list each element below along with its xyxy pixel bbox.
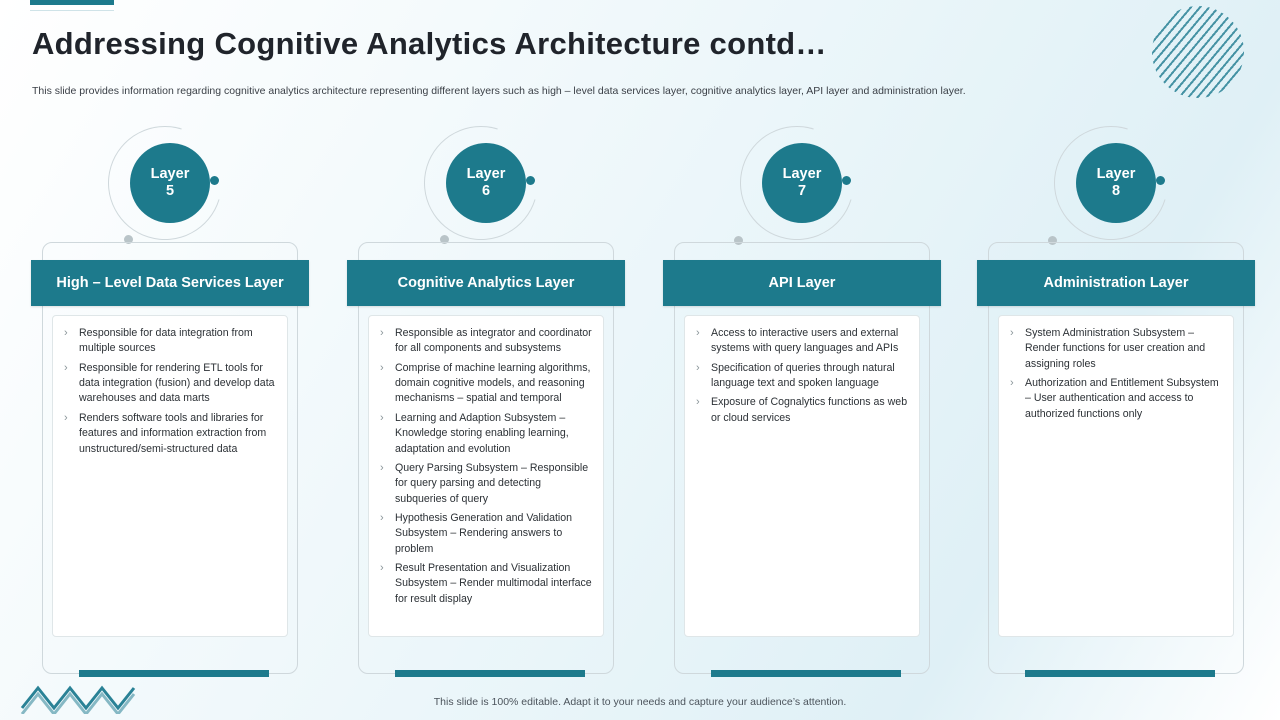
list-item-text: Responsible for data integration from mu… (79, 327, 253, 354)
list-item: ›Specification of queries through natura… (693, 361, 911, 392)
chevron-right-icon: › (64, 411, 68, 427)
list-item-text: Authorization and Entitlement Subsystem … (1025, 377, 1219, 420)
layers-container: Layer 5 High – Level Data Services Layer… (0, 120, 1280, 680)
list-item: ›Exposure of Cognalytics functions as we… (693, 395, 911, 426)
list-item: ›Learning and Adaption Subsystem – Knowl… (377, 411, 595, 457)
layer-badge-wrap-7: Layer 7 (740, 120, 870, 242)
layer-badge-7: Layer 7 (762, 143, 842, 223)
layer-card-7[interactable]: API Layer ›Access to interactive users a… (674, 242, 930, 674)
list-item-text: System Administration Subsystem – Render… (1025, 327, 1205, 370)
layer-badge-5: Layer 5 (130, 143, 210, 223)
layer-card-body-7: ›Access to interactive users and externa… (684, 315, 920, 637)
layer-badge-label: Layer (1097, 166, 1136, 183)
list-item-text: Result Presentation and Visualization Su… (395, 562, 592, 605)
layer-card-header-6: Cognitive Analytics Layer (347, 260, 625, 306)
badge-arc-dot-icon (526, 176, 535, 185)
footer-note: This slide is 100% editable. Adapt it to… (0, 696, 1280, 708)
list-item: ›Renders software tools and libraries fo… (61, 411, 279, 457)
list-item-text: Comprise of machine learning algorithms,… (395, 362, 590, 405)
list-item-text: Responsible as integrator and coordinato… (395, 327, 592, 354)
layer-column-8: Layer 8 Administration Layer ›System Adm… (970, 120, 1258, 680)
chevron-right-icon: › (380, 461, 384, 477)
layer-badge-number: 6 (482, 183, 490, 200)
list-item: ›System Administration Subsystem – Rende… (1007, 326, 1225, 372)
layer-badge-label: Layer (151, 166, 190, 183)
list-item-text: Renders software tools and libraries for… (79, 412, 266, 455)
layer-badge-label: Layer (783, 166, 822, 183)
slide-canvas: Addressing Cognitive Analytics Architect… (0, 0, 1280, 720)
list-item-text: Responsible for rendering ETL tools for … (79, 362, 275, 405)
layer-card-5[interactable]: High – Level Data Services Layer ›Respon… (42, 242, 298, 674)
list-item-text: Hypothesis Generation and Validation Sub… (395, 512, 572, 555)
chevron-right-icon: › (1010, 376, 1014, 392)
layer-badge-number: 5 (166, 183, 174, 200)
layer-card-6[interactable]: Cognitive Analytics Layer ›Responsible a… (358, 242, 614, 674)
list-item: ›Access to interactive users and externa… (693, 326, 911, 357)
page-subtitle: This slide provides information regardin… (32, 84, 1032, 99)
list-item-text: Query Parsing Subsystem – Responsible fo… (395, 462, 588, 505)
list-item-text: Exposure of Cognalytics functions as web… (711, 396, 907, 423)
bullet-list-6: ›Responsible as integrator and coordinat… (377, 326, 595, 607)
layer-card-footer-bar (711, 670, 901, 677)
layer-card-header-7: API Layer (663, 260, 941, 306)
list-item: ›Responsible for rendering ETL tools for… (61, 361, 279, 407)
layer-card-footer-bar (79, 670, 269, 677)
list-item: ›Hypothesis Generation and Validation Su… (377, 511, 595, 557)
list-item-text: Learning and Adaption Subsystem – Knowle… (395, 412, 569, 455)
chevron-right-icon: › (1010, 326, 1014, 342)
layer-badge-8: Layer 8 (1076, 143, 1156, 223)
layer-badge-6: Layer 6 (446, 143, 526, 223)
layer-card-body-6: ›Responsible as integrator and coordinat… (368, 315, 604, 637)
layer-card-body-5: ›Responsible for data integration from m… (52, 315, 288, 637)
layer-badge-wrap-8: Layer 8 (1054, 120, 1184, 242)
layer-badge-wrap-6: Layer 6 (424, 120, 554, 242)
list-item: ›Authorization and Entitlement Subsystem… (1007, 376, 1225, 422)
layer-badge-number: 7 (798, 183, 806, 200)
layer-card-header-5: High – Level Data Services Layer (31, 260, 309, 306)
list-item-text: Specification of queries through natural… (711, 362, 895, 389)
list-item-text: Access to interactive users and external… (711, 327, 898, 354)
badge-arc-dot-icon (1156, 176, 1165, 185)
chevron-right-icon: › (696, 395, 700, 411)
badge-arc-dot-icon (842, 176, 851, 185)
striped-circle-decoration-icon (1152, 6, 1244, 98)
chevron-right-icon: › (64, 326, 68, 342)
layer-column-6: Layer 6 Cognitive Analytics Layer ›Respo… (340, 120, 628, 680)
layer-column-5: Layer 5 High – Level Data Services Layer… (24, 120, 312, 680)
chevron-right-icon: › (380, 561, 384, 577)
page-title: Addressing Cognitive Analytics Architect… (32, 26, 827, 62)
chevron-right-icon: › (380, 361, 384, 377)
chevron-right-icon: › (380, 411, 384, 427)
layer-badge-number: 8 (1112, 183, 1120, 200)
layer-card-body-8: ›System Administration Subsystem – Rende… (998, 315, 1234, 637)
layer-badge-wrap-5: Layer 5 (108, 120, 238, 242)
top-left-accent-bar-secondary (30, 7, 114, 11)
chevron-right-icon: › (380, 511, 384, 527)
list-item: ›Responsible as integrator and coordinat… (377, 326, 595, 357)
bullet-list-8: ›System Administration Subsystem – Rende… (1007, 326, 1225, 422)
list-item: ›Comprise of machine learning algorithms… (377, 361, 595, 407)
layer-card-footer-bar (395, 670, 585, 677)
chevron-right-icon: › (696, 326, 700, 342)
layer-card-8[interactable]: Administration Layer ›System Administrat… (988, 242, 1244, 674)
chevron-right-icon: › (64, 361, 68, 377)
layer-card-header-8: Administration Layer (977, 260, 1255, 306)
list-item: ›Query Parsing Subsystem – Responsible f… (377, 461, 595, 507)
layer-badge-label: Layer (467, 166, 506, 183)
badge-arc-dot-icon (210, 176, 219, 185)
layer-card-footer-bar (1025, 670, 1215, 677)
layer-column-7: Layer 7 API Layer ›Access to interactive… (656, 120, 944, 680)
bullet-list-5: ›Responsible for data integration from m… (61, 326, 279, 457)
bullet-list-7: ›Access to interactive users and externa… (693, 326, 911, 426)
chevron-right-icon: › (380, 326, 384, 342)
list-item: ›Responsible for data integration from m… (61, 326, 279, 357)
list-item: ›Result Presentation and Visualization S… (377, 561, 595, 607)
chevron-right-icon: › (696, 361, 700, 377)
top-left-accent-bar (30, 0, 114, 5)
